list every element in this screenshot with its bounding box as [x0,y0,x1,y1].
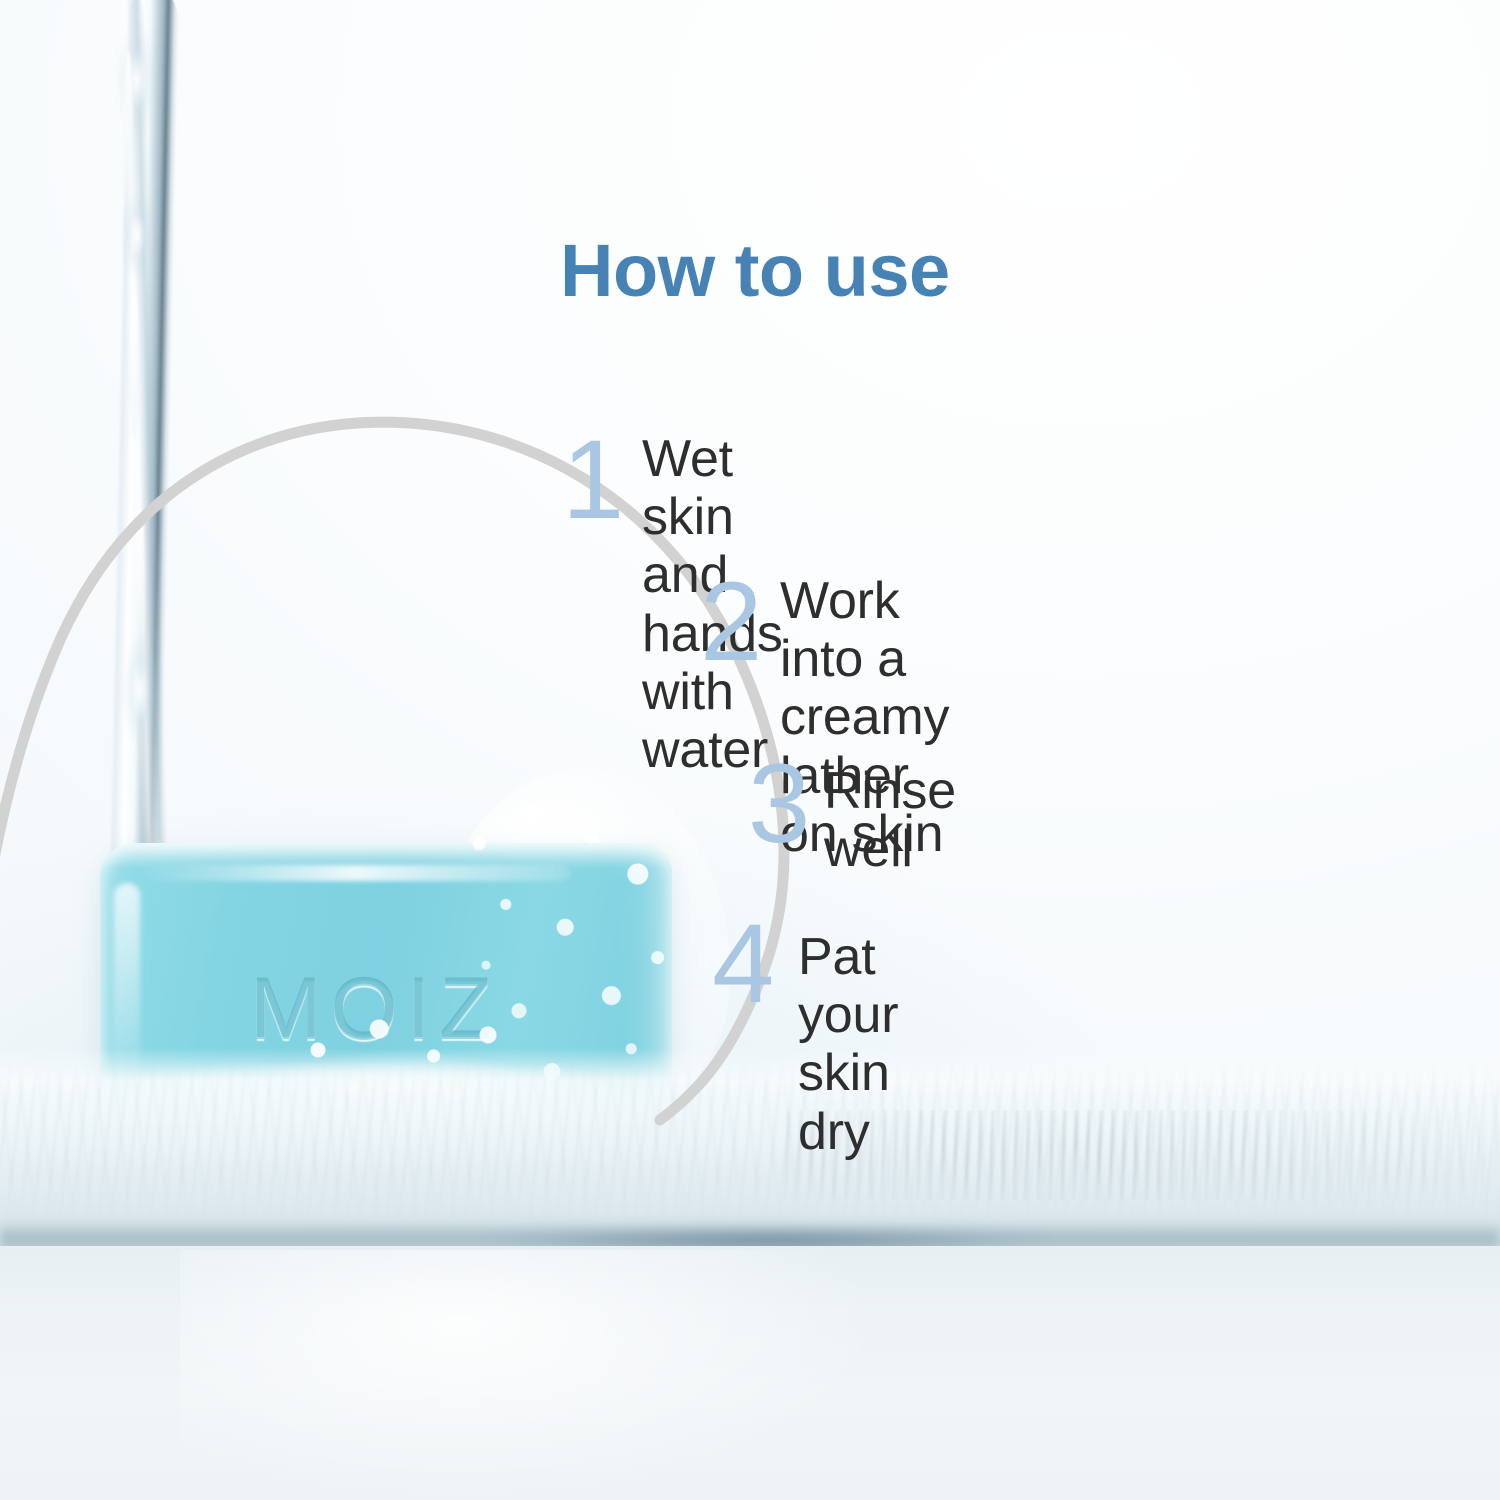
water-stream [100,0,230,870]
water-bulge [116,20,158,140]
infographic-canvas: MOIZ How to use 1 Wet skin and hands wit… [0,0,1500,1500]
water-highlight [130,290,139,440]
step-2-number: 2 [700,566,762,678]
water-highlight [136,510,145,680]
step-4-number: 4 [712,908,774,1020]
step-3-text: Rinse well [824,762,956,878]
page-title: How to use [560,228,950,313]
below-water-glow [180,1250,880,1500]
step-3-number: 3 [748,748,810,860]
water-highlight [124,50,133,240]
step-1-number: 1 [562,424,624,536]
step-4-text: Pat your skin dry [798,928,898,1161]
